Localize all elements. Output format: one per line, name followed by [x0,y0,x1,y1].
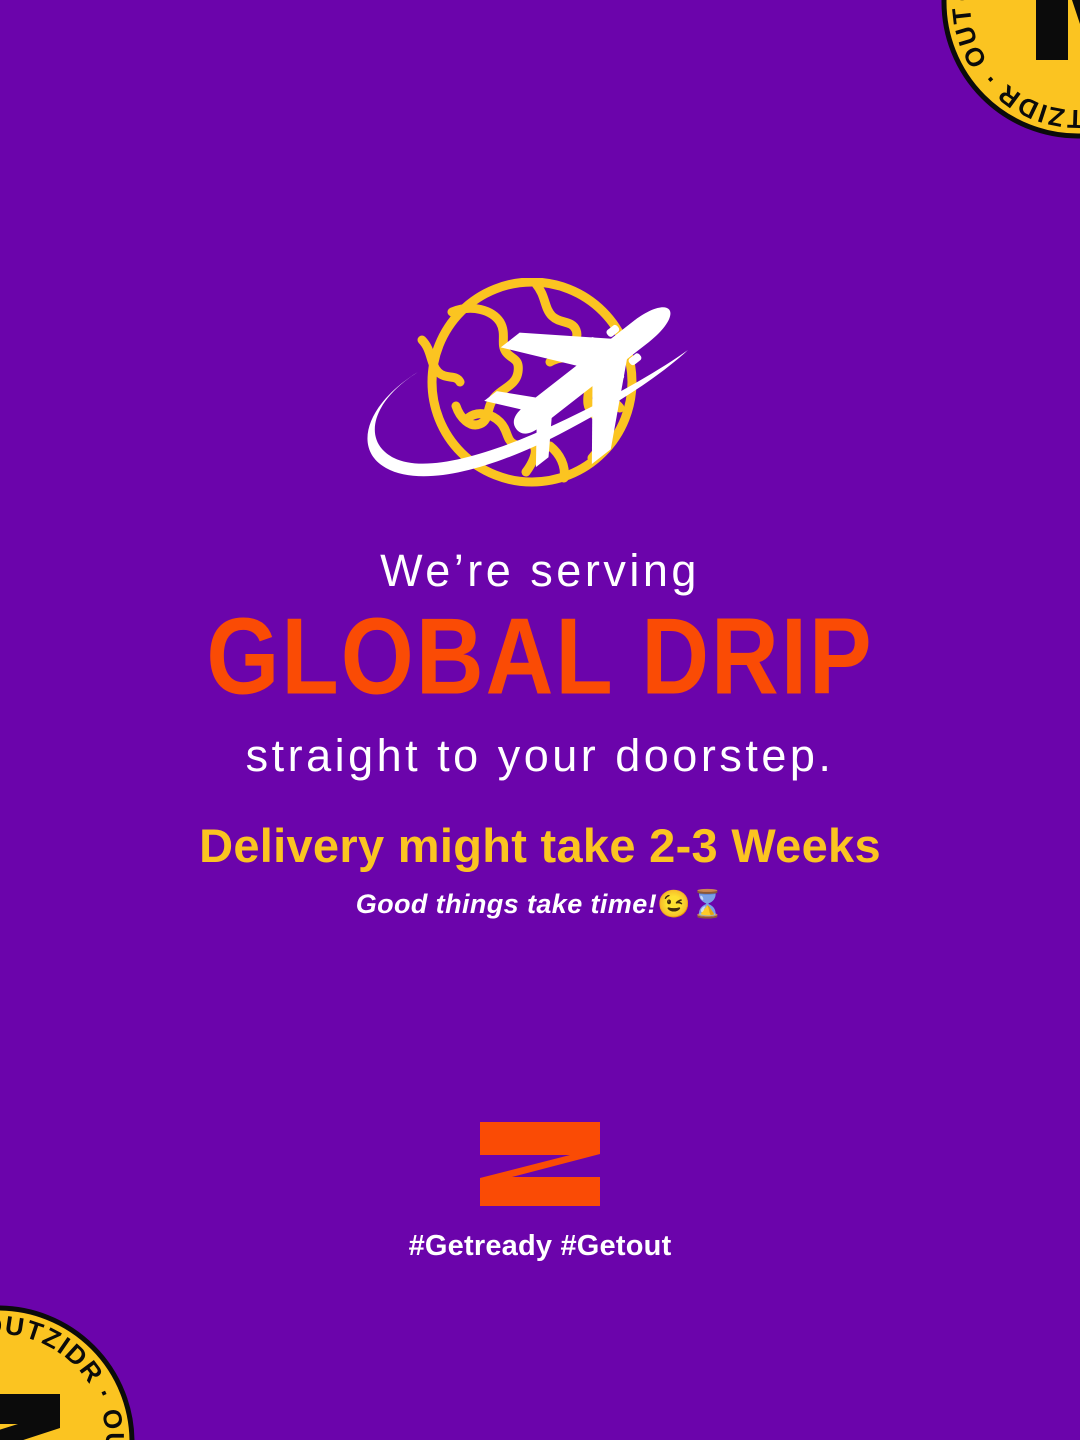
headline-eyebrow: We’re serving [0,548,1080,593]
headline-block: We’re serving GLOBAL DRIP straight to yo… [0,548,1080,778]
outzidr-stamp-badge-bottom-left: OUTZIDR · OUTZIDR · OUTZIDR · OUTZIDR · … [0,1302,138,1440]
globe-airplane-icon [360,278,720,510]
delivery-notice-block: Delivery might take 2-3 Weeks Good thing… [0,822,1080,918]
footer-hashtags: #Getready #Getout [0,1232,1080,1261]
hourglass-emoji: ⌛ [691,889,725,919]
footer-block: #Getready #Getout [0,1120,1080,1261]
page-title: GLOBAL DRIP [0,603,1080,712]
z-logo-mark [478,1120,602,1208]
wink-face-emoji: 😉 [657,889,691,919]
delivery-time-notice: Delivery might take 2-3 Weeks [0,822,1080,869]
reassurance-text: Good things take time! [356,889,657,919]
promo-poster: We’re serving GLOBAL DRIP straight to yo… [0,0,1080,1440]
outzidr-stamp-badge-top-right: OUTZIDR · OUTZIDR · OUTZIDR · OUTZIDR · … [938,0,1080,142]
delivery-reassurance: Good things take time!😉⌛ [0,891,1080,918]
headline-subtitle: straight to your doorstep. [0,733,1080,778]
